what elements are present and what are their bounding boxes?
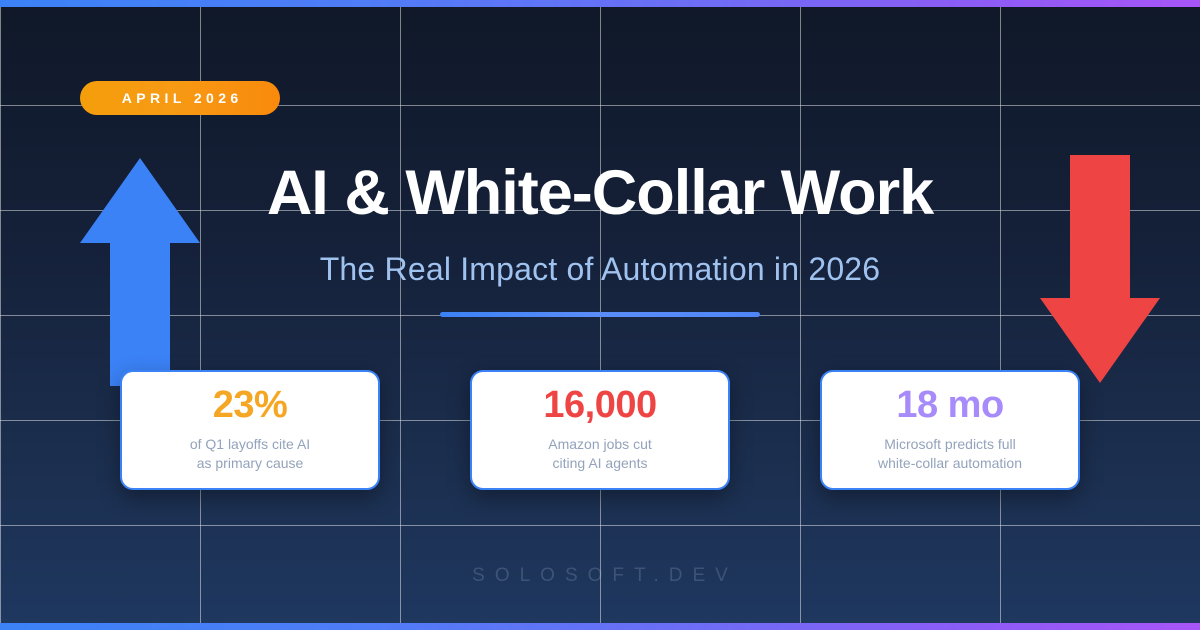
stat-label: Amazon jobs cut citing AI agents: [548, 435, 652, 475]
poster-canvas: APRIL 2026 AI & White-Collar Work The Re…: [0, 0, 1200, 630]
headline-block: AI & White-Collar Work The Real Impact o…: [0, 160, 1200, 317]
stat-label-line-1: of Q1 layoffs cite AI: [190, 436, 310, 452]
stat-label-line-2: white-collar automation: [878, 455, 1022, 471]
stat-label-line-2: citing AI agents: [553, 455, 648, 471]
watermark: SOLOSOFT.DEV: [0, 565, 1200, 587]
stat-label-line-1: Microsoft predicts full: [884, 436, 1015, 452]
bottom-gradient-bar: [0, 623, 1200, 630]
stat-card-group: 23% of Q1 layoffs cite AI as primary cau…: [120, 370, 1080, 490]
stat-label-line-2: as primary cause: [197, 455, 304, 471]
stat-value: 18 mo: [896, 386, 1003, 426]
stat-value: 23%: [213, 386, 288, 426]
accent-divider: [440, 312, 760, 317]
stat-label: of Q1 layoffs cite AI as primary cause: [190, 435, 310, 475]
page-title: AI & White-Collar Work: [0, 160, 1200, 226]
date-badge: APRIL 2026: [80, 81, 280, 115]
stat-label-line-1: Amazon jobs cut: [548, 436, 652, 452]
stat-label: Microsoft predicts full white-collar aut…: [878, 435, 1022, 475]
stat-card: 18 mo Microsoft predicts full white-coll…: [820, 370, 1080, 490]
stat-card: 23% of Q1 layoffs cite AI as primary cau…: [120, 370, 380, 490]
stat-value: 16,000: [543, 386, 656, 426]
stat-card: 16,000 Amazon jobs cut citing AI agents: [470, 370, 730, 490]
page-subtitle: The Real Impact of Automation in 2026: [0, 251, 1200, 288]
top-gradient-bar: [0, 0, 1200, 7]
